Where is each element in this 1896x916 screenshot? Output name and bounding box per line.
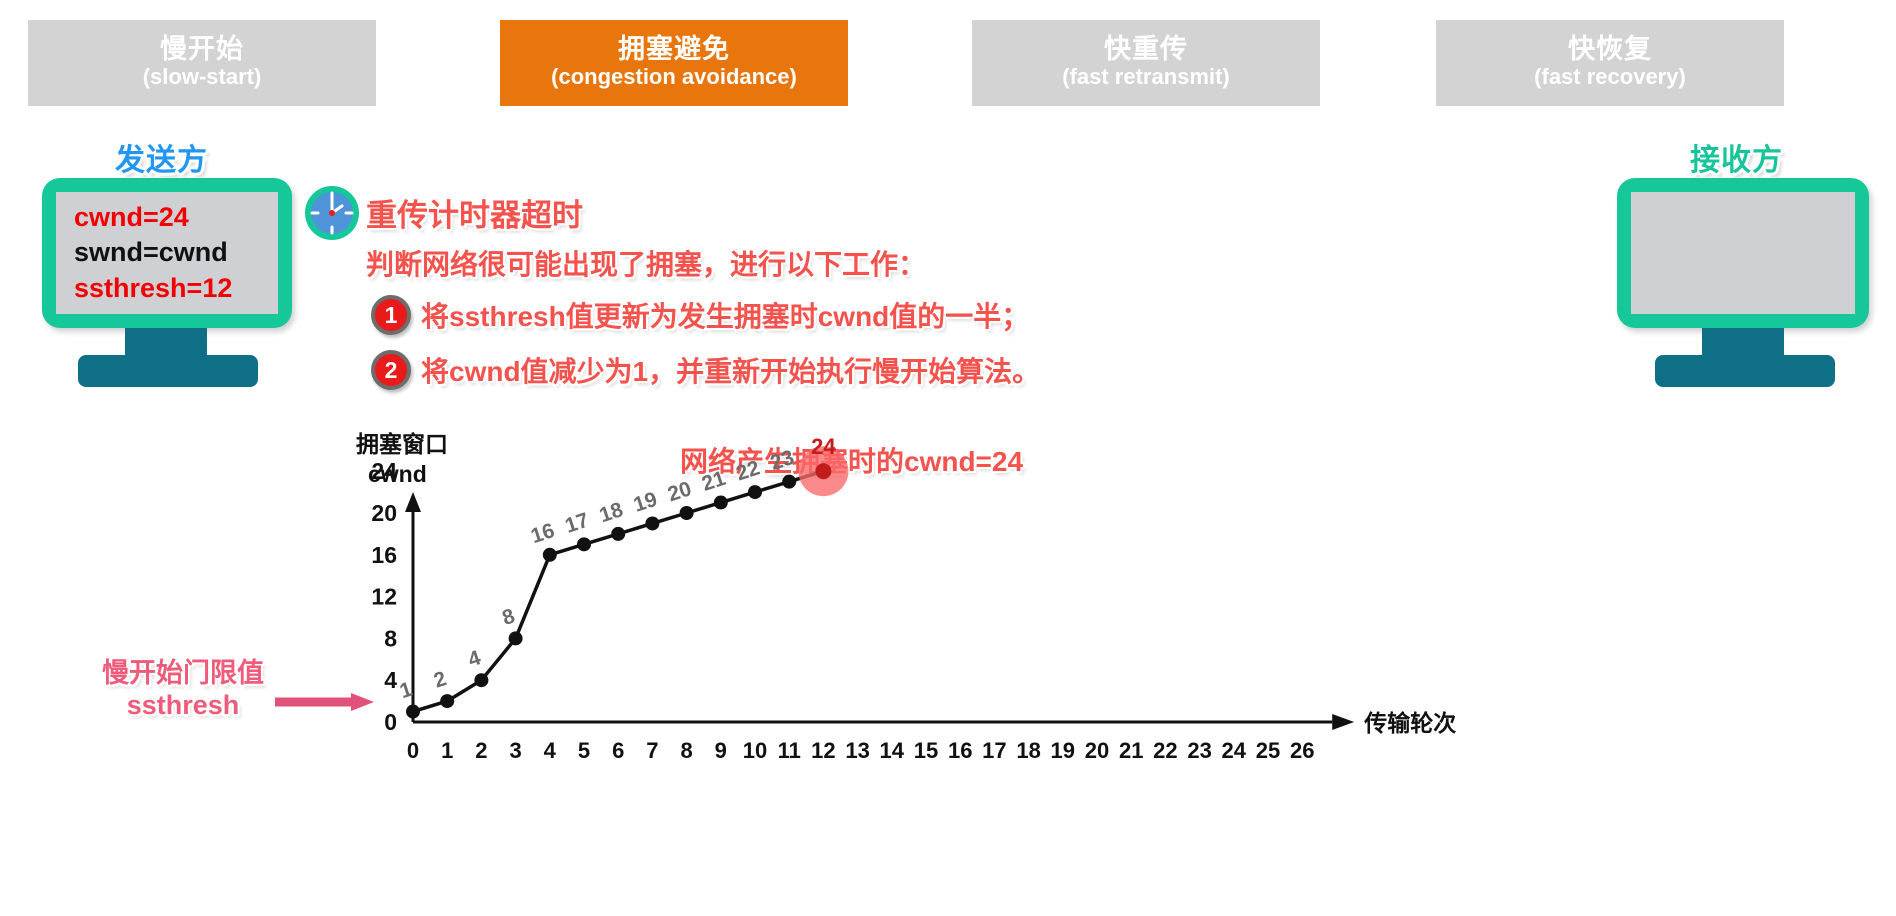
x-tick-label: 6 — [612, 738, 624, 763]
receiver-label: 接收方 — [1690, 135, 1783, 179]
y-tick-label: 12 — [371, 584, 397, 610]
y-tick-label: 0 — [384, 709, 397, 735]
timer-clock-icon — [303, 184, 361, 242]
tab-congestion-avoidance[interactable]: 拥塞避免 (congestion avoidance) — [500, 20, 848, 106]
data-point-label: 23 — [768, 446, 797, 475]
congestion-point-marker — [815, 463, 831, 479]
x-tick-label: 17 — [982, 738, 1006, 763]
receiver-monitor — [1617, 178, 1869, 328]
tab-congestion-avoidance-cn: 拥塞避免 — [618, 35, 730, 63]
sender-monitor-stand-neck — [125, 328, 207, 358]
x-tick-label: 20 — [1085, 738, 1109, 763]
x-tick-label: 9 — [715, 738, 727, 763]
data-point-label: 2 — [431, 667, 449, 692]
x-tick-label: 26 — [1290, 738, 1314, 763]
data-point-marker — [611, 527, 625, 541]
x-tick-label: 12 — [811, 738, 835, 763]
data-point-marker — [782, 475, 796, 489]
sender-var-ssthresh: ssthresh=12 — [74, 271, 260, 307]
data-point-marker — [645, 516, 659, 530]
receiver-screen — [1631, 192, 1855, 314]
x-tick-label: 11 — [778, 738, 801, 763]
x-tick-label: 19 — [1051, 738, 1075, 763]
x-tick-label: 5 — [578, 738, 590, 763]
x-tick-label: 23 — [1187, 738, 1211, 763]
data-point-marker — [748, 485, 762, 499]
sender-label: 发送方 — [115, 135, 208, 179]
sender-var-cwnd: cwnd=24 — [74, 200, 260, 236]
tab-slow-start-cn: 慢开始 — [160, 35, 244, 63]
tab-fast-recovery-cn: 快恢复 — [1568, 35, 1652, 63]
timeout-title: 重传计时器超时 — [366, 190, 583, 235]
x-axis-title: 传输轮次 — [1363, 710, 1456, 736]
cwnd-chart: 拥塞窗口cwnd传输轮次0481216202401234567891011121… — [300, 430, 1600, 916]
x-tick-label: 15 — [914, 738, 938, 763]
x-tick-label: 3 — [509, 738, 521, 763]
y-axis-label-cn: 拥塞窗口 — [356, 431, 448, 457]
tab-fast-recovery-en: (fast recovery) — [1534, 63, 1686, 91]
y-tick-label: 20 — [371, 500, 397, 526]
x-tick-label: 13 — [845, 738, 869, 763]
tab-slow-start[interactable]: 慢开始 (slow-start) — [28, 20, 376, 106]
data-point-label: 8 — [499, 604, 518, 630]
x-tick-label: 21 — [1119, 738, 1143, 763]
sender-var-swnd: swnd=cwnd — [74, 235, 260, 271]
x-tick-label: 24 — [1222, 738, 1247, 763]
x-tick-label: 25 — [1256, 738, 1280, 763]
step-1-badge: 1 — [371, 295, 411, 335]
x-tick-label: 22 — [1153, 738, 1177, 763]
step-1-text: 将ssthresh值更新为发生拥塞时cwnd值的一半； — [421, 295, 1029, 335]
data-point-label: 4 — [465, 646, 484, 672]
ssthresh-callout-cn: 慢开始门限值 — [68, 658, 298, 690]
tab-fast-retransmit-en: (fast retransmit) — [1062, 63, 1229, 91]
data-point-marker — [440, 694, 454, 708]
x-tick-label: 10 — [743, 738, 767, 763]
data-point-label: 17 — [562, 509, 591, 538]
data-point-label: 19 — [631, 488, 660, 517]
data-point-marker — [474, 673, 488, 687]
tab-fast-retransmit-cn: 快重传 — [1104, 35, 1188, 63]
data-point-marker — [577, 537, 591, 551]
y-axis-arrow — [405, 492, 421, 512]
judge-line: 判断网络很可能出现了拥塞，进行以下工作： — [366, 243, 926, 283]
data-point-marker — [680, 506, 694, 520]
y-tick-label: 4 — [384, 667, 397, 693]
data-point-marker — [543, 548, 557, 562]
tab-slow-start-en: (slow-start) — [143, 63, 262, 91]
data-point-marker — [406, 705, 420, 719]
x-tick-label: 0 — [407, 738, 419, 763]
data-point-marker — [509, 631, 523, 645]
tab-congestion-avoidance-en: (congestion avoidance) — [551, 63, 797, 91]
sender-monitor: cwnd=24 swnd=cwnd ssthresh=12 — [42, 178, 292, 328]
x-tick-label: 2 — [475, 738, 487, 763]
x-tick-label: 1 — [441, 738, 453, 763]
y-tick-label: 24 — [371, 458, 397, 484]
data-point-label: 24 — [811, 434, 836, 459]
receiver-monitor-stand-neck — [1702, 328, 1784, 358]
tab-fast-recovery[interactable]: 快恢复 (fast recovery) — [1436, 20, 1784, 106]
data-point-marker — [714, 496, 728, 510]
receiver-monitor-stand-base — [1655, 355, 1835, 387]
x-axis-arrow — [1332, 714, 1354, 730]
cwnd-chart-svg: 拥塞窗口cwnd传输轮次0481216202401234567891011121… — [300, 430, 1600, 916]
data-point-label: 22 — [733, 456, 762, 485]
step-2-badge: 2 — [371, 350, 411, 390]
sender-monitor-stand-base — [78, 355, 258, 387]
data-point-label: 21 — [699, 467, 729, 496]
x-tick-label: 18 — [1016, 738, 1040, 763]
y-tick-label: 16 — [371, 542, 397, 568]
x-tick-label: 7 — [646, 738, 658, 763]
x-tick-label: 14 — [880, 738, 905, 763]
tab-fast-retransmit[interactable]: 快重传 (fast retransmit) — [972, 20, 1320, 106]
ssthresh-callout-en: ssthresh — [68, 690, 298, 722]
sender-screen: cwnd=24 swnd=cwnd ssthresh=12 — [56, 192, 278, 314]
phase-tab-bar: 慢开始 (slow-start) 拥塞避免 (congestion avoida… — [0, 20, 1896, 106]
ssthresh-callout: 慢开始门限值 ssthresh — [68, 658, 298, 722]
data-point-label: 16 — [528, 519, 557, 548]
y-tick-label: 8 — [384, 625, 397, 651]
x-tick-label: 8 — [680, 738, 692, 763]
x-tick-label: 16 — [948, 738, 972, 763]
step-2-text: 将cwnd值减少为1，并重新开始执行慢开始算法。 — [421, 350, 1040, 390]
data-point-label: 20 — [665, 477, 694, 506]
data-point-label: 18 — [597, 498, 627, 527]
x-tick-label: 4 — [544, 738, 557, 763]
